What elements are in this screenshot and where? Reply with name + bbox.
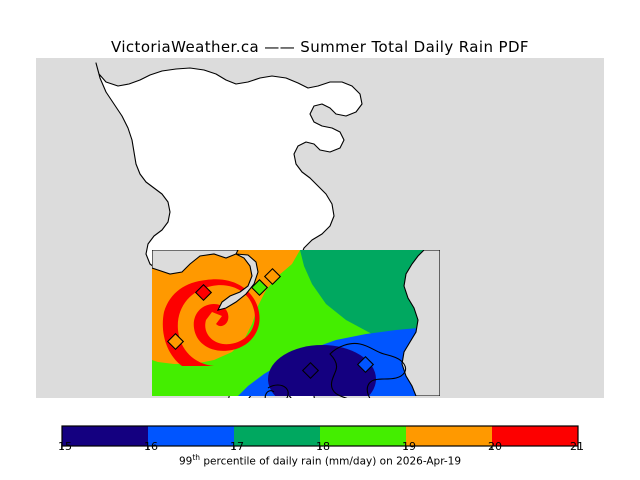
colorbar-segment-17-18[interactable]: [234, 426, 320, 446]
colorbar-segment-20-21[interactable]: [492, 426, 578, 446]
colorbar-tick-6: 21: [570, 440, 584, 453]
colorbar-tick-4: 19: [402, 440, 416, 453]
colorbar-tick-0: 15: [58, 440, 72, 453]
map-bottom-margin: [0, 398, 640, 410]
colorbar-segment-19-20[interactable]: [406, 426, 492, 446]
colorbar-tick-5: 20: [488, 440, 502, 453]
contour-field: [152, 250, 440, 410]
colorbar-caption: 99th percentile of daily rain (mm/day) o…: [0, 453, 640, 468]
colorbar-tick-2: 17: [230, 440, 244, 453]
caption-rest: percentile of daily rain (mm/day) on 202…: [200, 456, 461, 468]
page-title: VictoriaWeather.ca —— Summer Total Daily…: [0, 38, 640, 56]
colorbar-tick-1: 16: [144, 440, 158, 453]
map-panel: [0, 58, 640, 410]
colorbar-segment-15-16[interactable]: [62, 426, 148, 446]
colorbar-tick-3: 18: [316, 440, 330, 453]
colorbar-panel: 15 16 17 18 19 20 21 99th percentile of …: [0, 420, 640, 480]
screenshot-root: VictoriaWeather.ca —— Summer Total Daily…: [0, 0, 640, 480]
caption-superscript: th: [192, 453, 200, 462]
rain-contour-map[interactable]: [0, 58, 640, 410]
colorbar-segment-18-19[interactable]: [320, 426, 406, 446]
caption-prefix: 99: [179, 456, 192, 468]
colorbar-segment-16-17[interactable]: [148, 426, 234, 446]
